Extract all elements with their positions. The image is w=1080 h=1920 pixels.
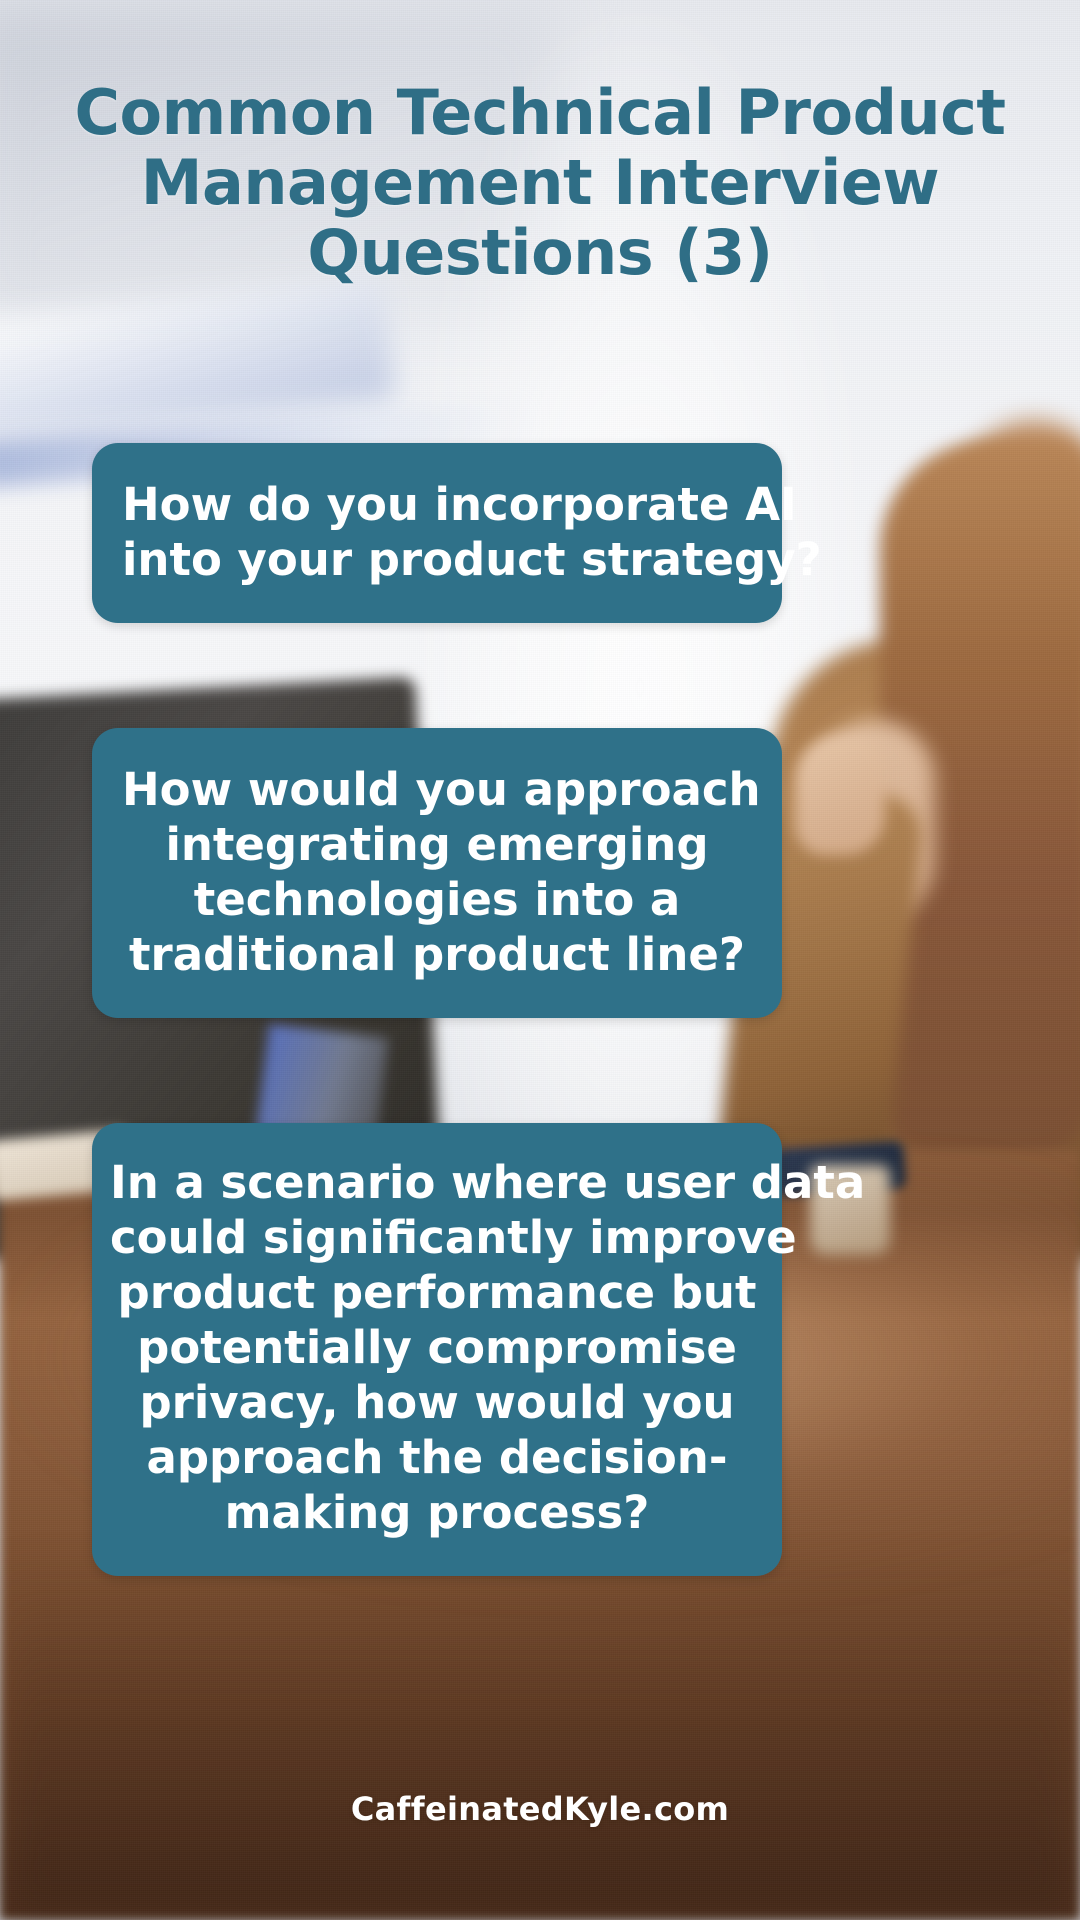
footer-website: CaffeinatedKyle.com (0, 1790, 1080, 1828)
question-card-3-line-5: privacy, how would you (110, 1375, 764, 1430)
page-title: Common Technical Product Management Inte… (0, 78, 1080, 288)
question-card-list: How do you incorporate AI into your prod… (92, 443, 782, 1576)
question-card-3: In a scenario where user data could sign… (92, 1123, 782, 1576)
question-card-3-line-1: In a scenario where user data (110, 1155, 764, 1210)
page-title-line-3: Questions (3) (70, 218, 1010, 288)
question-card-2-line-2: integrating emerging (122, 817, 752, 872)
question-card-2: How would you approach integrating emerg… (92, 728, 782, 1018)
question-card-1: How do you incorporate AI into your prod… (92, 443, 782, 623)
question-card-2-line-1: How would you approach (122, 762, 752, 817)
page-title-line-1: Common Technical Product (70, 78, 1010, 148)
question-card-2-line-3: technologies into a (122, 872, 752, 927)
question-card-2-line-4: traditional product line? (122, 927, 752, 982)
question-card-3-line-4: potentially compromise (110, 1320, 764, 1375)
question-card-3-line-6: approach the decision- (110, 1430, 764, 1485)
question-card-1-line-1: How do you incorporate AI (122, 477, 752, 532)
infographic-page: Common Technical Product Management Inte… (0, 0, 1080, 1920)
question-card-3-line-2: could significantly improve (110, 1210, 764, 1265)
question-card-1-line-2: into your product strategy? (122, 532, 752, 587)
content-layer: Common Technical Product Management Inte… (0, 0, 1080, 1920)
page-title-line-2: Management Interview (70, 148, 1010, 218)
question-card-3-line-3: product performance but (110, 1265, 764, 1320)
question-card-3-line-7: making process? (110, 1485, 764, 1540)
